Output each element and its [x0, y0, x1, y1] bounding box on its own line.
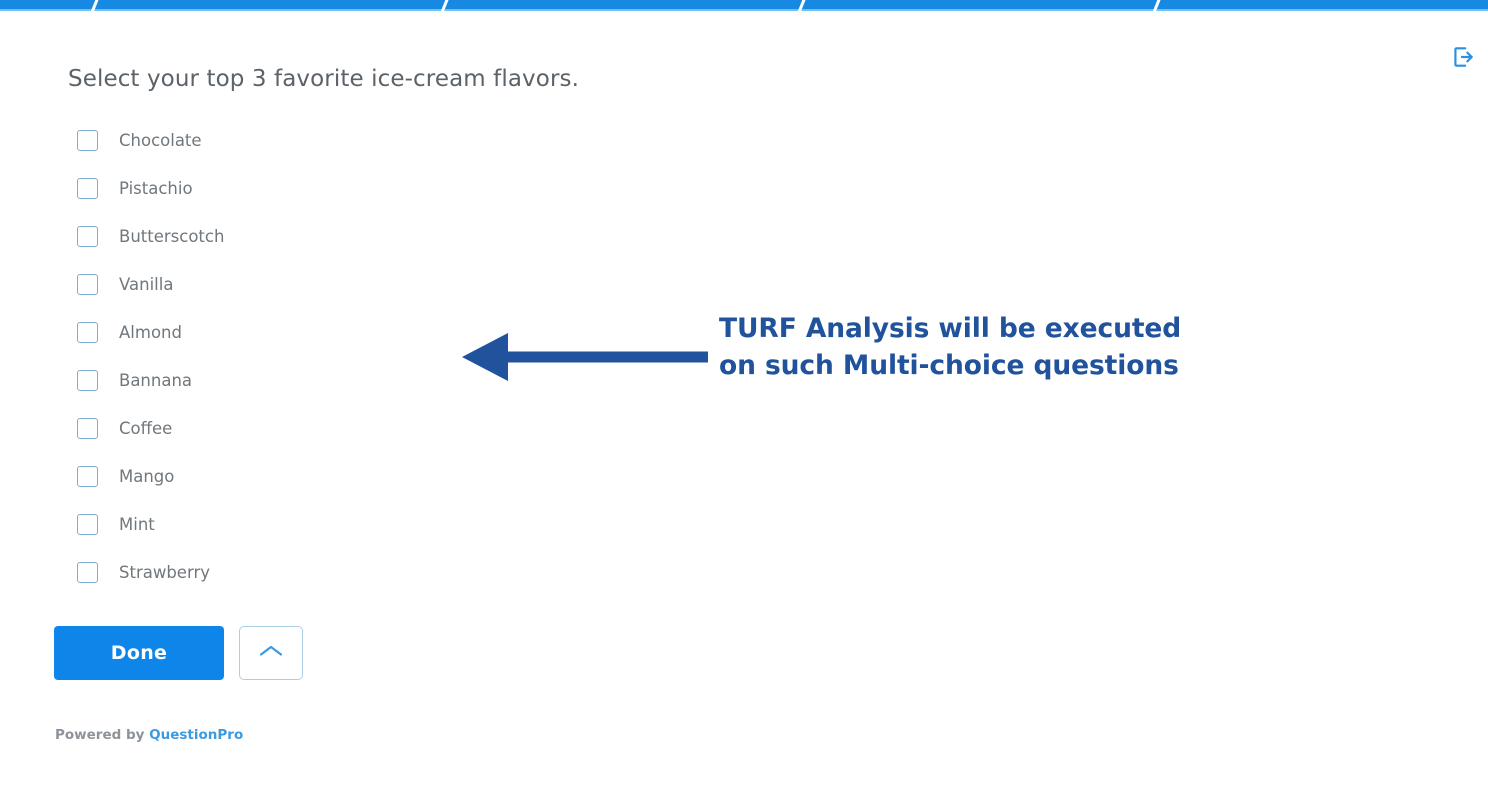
questionpro-brand-link[interactable]: QuestionPro [149, 727, 243, 743]
list-item-label: Chocolate [119, 131, 202, 150]
list-item[interactable]: Butterscotch [68, 212, 488, 260]
chevron-up-icon [257, 642, 285, 664]
footer-credit: Powered by QuestionPro [55, 727, 243, 743]
list-item[interactable]: Bannana [68, 356, 488, 404]
list-item[interactable]: Coffee [68, 404, 488, 452]
list-item[interactable]: Almond [68, 308, 488, 356]
survey-body: Select your top 3 favorite ice-cream fla… [0, 11, 1488, 792]
survey-progress-bar [0, 0, 1488, 11]
collapse-button[interactable] [239, 626, 303, 680]
list-item-label: Coffee [119, 419, 172, 438]
checkbox-input[interactable] [77, 466, 98, 487]
checkbox-options-list: Chocolate Pistachio Butterscotch Vanilla… [68, 116, 488, 596]
list-item-label: Strawberry [119, 563, 210, 582]
action-button-row: Done [54, 626, 303, 680]
checkbox-input[interactable] [77, 322, 98, 343]
checkbox-input[interactable] [77, 226, 98, 247]
list-item-label: Pistachio [119, 179, 193, 198]
checkbox-input[interactable] [77, 514, 98, 535]
footer-powered-by-text: Powered by [55, 727, 149, 743]
list-item-label: Mint [119, 515, 155, 534]
list-item[interactable]: Pistachio [68, 164, 488, 212]
checkbox-input[interactable] [77, 130, 98, 151]
list-item[interactable]: Vanilla [68, 260, 488, 308]
list-item-label: Butterscotch [119, 227, 224, 246]
list-item-label: Mango [119, 467, 174, 486]
list-item-label: Vanilla [119, 275, 173, 294]
list-item-label: Almond [119, 323, 182, 342]
list-item-label: Bannana [119, 371, 192, 390]
list-item[interactable]: Strawberry [68, 548, 488, 596]
done-button[interactable]: Done [54, 626, 224, 680]
checkbox-input[interactable] [77, 178, 98, 199]
list-item[interactable]: Chocolate [68, 116, 488, 164]
checkbox-input[interactable] [77, 274, 98, 295]
list-item[interactable]: Mint [68, 500, 488, 548]
checkbox-input[interactable] [77, 370, 98, 391]
checkbox-input[interactable] [77, 562, 98, 583]
page-title: Select your top 3 favorite ice-cream fla… [68, 66, 579, 92]
list-item[interactable]: Mango [68, 452, 488, 500]
checkbox-input[interactable] [77, 418, 98, 439]
